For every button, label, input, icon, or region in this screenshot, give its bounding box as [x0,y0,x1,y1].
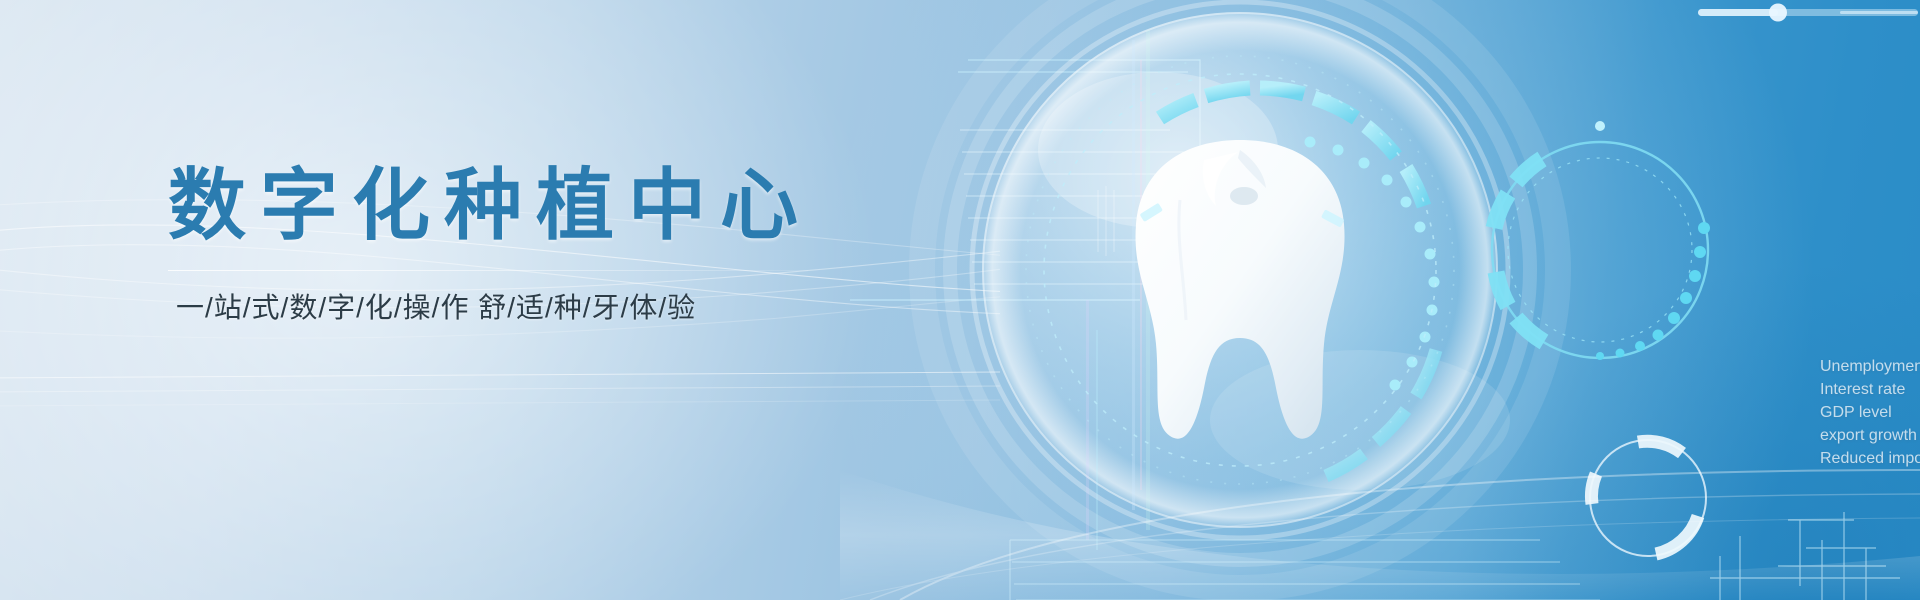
headline-block: 数字化种植中心 一/站/式/数/字/化/操/作 舒/适/种/牙/体/验 [168,166,812,244]
page-subtitle: 一/站/式/数/字/化/操/作 舒/适/种/牙/体/验 [176,286,696,326]
page-title: 数字化种植中心 [168,166,812,244]
banner: 数字化种植中心 一/站/式/数/字/化/操/作 舒/适/种/牙/体/验 [0,0,1920,600]
table-row: Unemployment rate 75% [1820,357,1920,380]
table-row: Interest rate 25% [1820,380,1920,403]
table-row: export growth 95% [1820,426,1920,449]
panel-title: KEY GROWTH FACTORS [1860,325,1920,342]
row-label: Unemployment rate [1820,358,1920,376]
hud-graphics [840,0,1920,600]
row-label: Interest rate [1820,381,1905,399]
row-label: export growth [1820,427,1917,445]
row-label: GDP level [1820,404,1892,422]
hud-stage: 0.62947852 0.81468456 0.71843 KEY GROWTH… [840,0,1920,600]
title-divider [168,270,808,271]
panel-rows: Unemployment rate 75% Interest rate 25% … [1820,357,1920,472]
table-row: Reduced imports 25% [1820,449,1920,472]
slider-icon [1698,4,1918,22]
row-label: Reduced imports [1820,450,1920,468]
table-row: GDP level 75% [1820,403,1920,426]
